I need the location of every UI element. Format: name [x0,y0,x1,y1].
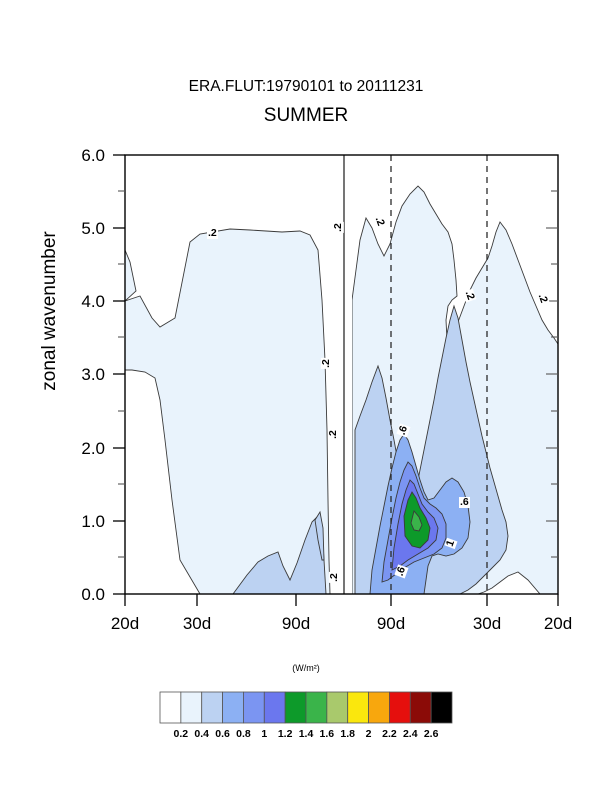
contour-level-label: .2 [329,572,340,583]
colorbar-cell [264,692,285,723]
x-tick-label-30d-east: 30d [457,614,517,634]
colorbar-cell [369,692,390,723]
x-tick-label-90d-east: 90d [361,614,421,634]
contour-level-label: .6 [459,497,470,508]
colorbar-cell [410,692,431,723]
x-tick-label-30d-west: 30d [167,614,227,634]
colorbar-units-label: (W/m²) [0,663,612,673]
x-tick-label-20d-east: 20d [528,614,588,634]
colorbar-cell [243,692,264,723]
y-tick-label: 3.0 [55,365,105,385]
contour-level-label: .2 [321,358,332,369]
colorbar-cell [306,692,327,723]
figure-root: ERA.FLUT:19790101 to 20111231 SUMMER zon… [0,0,612,792]
contour-level-label: .2 [207,228,218,239]
colorbar-cell [181,692,202,723]
x-tick-label-90d-west: 90d [266,614,326,634]
y-tick-label: 6.0 [55,146,105,166]
colorbar [160,692,452,723]
x-tick-label-20d-west: 20d [95,614,155,634]
colorbar-cell [160,692,181,723]
colorbar-cell [202,692,223,723]
y-tick-label: 2.0 [55,439,105,459]
y-tick-label: 0.0 [55,585,105,605]
y-tick-label: 5.0 [55,219,105,239]
colorbar-cell [285,692,306,723]
y-major-ticks [113,155,125,594]
colorbar-cell [348,692,369,723]
colorbar-cell [327,692,348,723]
x-major-ticks [125,594,558,606]
colorbar-cell [223,692,244,723]
y-tick-label: 1.0 [55,512,105,532]
colorbar-cell [431,692,452,723]
colorbar-cell [389,692,410,723]
contour-plot [0,0,612,792]
y-tick-label: 4.0 [55,292,105,312]
contour-level-label: .2 [333,222,344,233]
colorbar-tick-label: 2.6 [411,728,451,740]
contour-level-label: .2 [328,429,339,440]
